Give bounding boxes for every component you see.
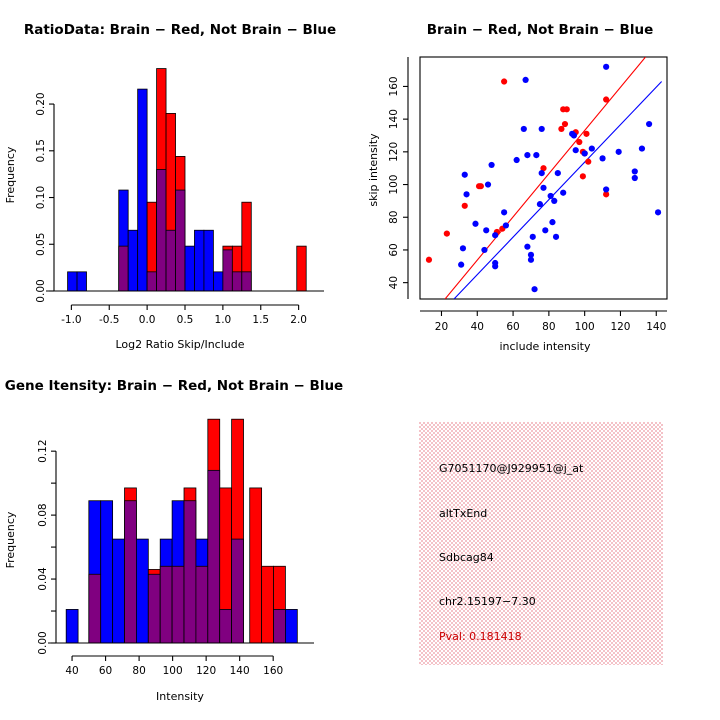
scatter-point: [503, 222, 509, 228]
y-axis-tick-label: 40: [388, 276, 400, 289]
scatter-point: [472, 221, 478, 227]
scatter-point: [463, 191, 469, 197]
scatter-point: [483, 227, 489, 233]
scatter-point: [576, 139, 582, 145]
info-line-event: altTxEnd: [439, 507, 487, 520]
scatter-point: [478, 183, 484, 189]
x-axis-tick-label: -0.5: [99, 314, 120, 326]
scatter-point: [555, 170, 561, 176]
histogram-bar: [213, 272, 222, 291]
scatter-point: [585, 159, 591, 165]
scatter-point: [460, 245, 466, 251]
histogram-bar: [138, 89, 147, 291]
x-axis-tick-label: 0.0: [139, 314, 156, 326]
not-brain-fit-line: [454, 82, 662, 299]
histogram-bar-overlap: [157, 169, 166, 291]
histogram-bar-overlap: [172, 566, 184, 643]
intensity-scatter-svg: Brain − Red, Not Brain − Blue include in…: [360, 0, 720, 360]
scatter-point: [603, 96, 609, 102]
gene-histogram-ylabel: Frequency: [4, 511, 17, 568]
scatter-point: [571, 132, 577, 138]
x-axis-tick-label: 40: [471, 321, 484, 333]
histogram-bar: [262, 566, 274, 643]
histogram-bar-overlap: [148, 574, 160, 643]
scatter-point: [530, 234, 536, 240]
histogram-bar-overlap: [119, 246, 128, 291]
histogram-bar-overlap: [242, 272, 251, 291]
x-axis-tick-label: 120: [196, 665, 216, 677]
histogram-bar-overlap: [196, 566, 208, 643]
x-axis-tick-label: 60: [506, 321, 519, 333]
scatter-fit-lines: [445, 57, 662, 299]
scatter-point: [539, 126, 545, 132]
scatter-point: [539, 170, 545, 176]
histogram-bar-overlap: [220, 609, 232, 643]
scatter-point: [492, 232, 498, 238]
scatter-point: [523, 77, 529, 83]
scatter-point: [560, 190, 566, 196]
y-axis-tick-label: 0.05: [35, 233, 47, 256]
scatter-point: [562, 121, 568, 127]
scatter-point: [551, 198, 557, 204]
scatter-point: [549, 219, 555, 225]
y-axis-tick-label: 60: [388, 243, 400, 256]
x-axis-tick-label: -1.0: [61, 314, 82, 326]
histogram-bar-overlap: [223, 250, 232, 291]
y-axis-tick-label: 0.15: [35, 139, 47, 162]
x-axis-tick-label: 140: [646, 321, 666, 333]
y-axis-tick-label: 80: [388, 211, 400, 224]
scatter-point: [488, 162, 494, 168]
y-axis-tick-label: 0.04: [37, 567, 49, 591]
scatter-ylabel: skip intensity: [367, 133, 380, 207]
gene-intensity-panel: Gene Itensity: Brain − Red, Not Brain − …: [0, 360, 360, 720]
scatter-point: [462, 172, 468, 178]
scatter-xlabel: include intensity: [499, 340, 591, 353]
histogram-bar-overlap: [166, 230, 175, 291]
scatter-title: Brain − Red, Not Brain − Blue: [427, 22, 653, 38]
x-axis-tick-label: 20: [435, 321, 448, 333]
scatter-point: [481, 247, 487, 253]
histogram-bar: [204, 230, 213, 291]
scatter-point: [524, 244, 530, 250]
x-axis-tick-label: 80: [132, 665, 145, 677]
y-axis-tick-label: 120: [388, 142, 400, 162]
histogram-bar-overlap: [89, 574, 101, 643]
histogram-bar-overlap: [232, 539, 244, 643]
histogram-bar: [101, 501, 113, 643]
scatter-point: [537, 201, 543, 207]
x-axis-tick-label: 60: [99, 665, 112, 677]
gene-histogram-xlabel: Intensity: [156, 690, 204, 703]
gene-histogram-title: Gene Itensity: Brain − Red, Not Brain − …: [5, 378, 343, 394]
scatter-point: [632, 168, 638, 174]
ratio-histogram-xlabel: Log2 Ratio Skip/Include: [115, 338, 244, 351]
histogram-bar-overlap: [184, 501, 196, 643]
histogram-bar-overlap: [160, 566, 172, 643]
scatter-point: [553, 234, 559, 240]
scatter-point: [646, 121, 652, 127]
scatter-axes: 20406080100120140406080100120140160: [388, 57, 667, 333]
histogram-bar: [68, 272, 77, 291]
histogram-bar: [185, 246, 194, 291]
info-line-pval: Pval: 0.181418: [439, 630, 522, 643]
x-axis-tick-label: 140: [230, 665, 250, 677]
histogram-bar-overlap: [176, 190, 185, 291]
x-axis-tick-label: 80: [542, 321, 555, 333]
scatter-points: [426, 64, 661, 293]
histogram-bar-overlap: [232, 272, 241, 291]
scatter-point: [599, 155, 605, 161]
scatter-point: [540, 185, 546, 191]
histogram-bar: [285, 609, 297, 643]
scatter-point: [501, 209, 507, 215]
scatter-point: [533, 152, 539, 158]
scatter-point: [583, 131, 589, 137]
scatter-point: [524, 152, 530, 158]
scatter-point: [603, 186, 609, 192]
scatter-point: [542, 227, 548, 233]
scatter-point: [492, 260, 498, 266]
x-axis-tick-label: 0.5: [177, 314, 194, 326]
scatter-point: [531, 286, 537, 292]
gene-info-panel: G7051170@J929951@j_at altTxEnd Sdbcag84 …: [419, 422, 663, 665]
scatter-point: [485, 181, 491, 187]
ratio-histogram-ylabel: Frequency: [4, 146, 17, 203]
histogram-bar-overlap: [147, 272, 156, 291]
x-axis-tick-label: 160: [263, 665, 283, 677]
histogram-bar-overlap: [208, 470, 220, 643]
gene-intensity-svg: Gene Itensity: Brain − Red, Not Brain − …: [0, 360, 360, 720]
ratio-histogram-svg: RatioData: Brain − Red, Not Brain − Blue…: [0, 0, 360, 360]
y-axis-tick-label: 0.00: [37, 631, 49, 654]
histogram-bar: [297, 246, 306, 291]
scatter-point: [458, 262, 464, 268]
scatter-point: [521, 126, 527, 132]
x-axis-tick-label: 100: [163, 665, 183, 677]
histogram-bar: [250, 488, 262, 643]
ratio-histogram-panel: RatioData: Brain − Red, Not Brain − Blue…: [0, 0, 360, 360]
scatter-point: [426, 257, 432, 263]
scatter-point: [655, 209, 661, 215]
gene-histogram-bars: [66, 419, 297, 643]
histogram-bar: [66, 609, 78, 643]
x-axis-tick-label: 2.0: [290, 314, 307, 326]
histogram-bar: [128, 230, 137, 291]
scatter-point: [616, 149, 622, 155]
y-axis-tick-label: 0.00: [35, 279, 47, 302]
scatter-point: [603, 64, 609, 70]
histogram-bar-overlap: [125, 501, 137, 643]
y-axis-tick-label: 100: [388, 175, 400, 195]
y-axis-tick-label: 0.12: [37, 439, 49, 462]
scatter-point: [580, 173, 586, 179]
scatter-point: [462, 203, 468, 209]
histogram-bar: [77, 272, 86, 291]
x-axis-tick-label: 1.5: [252, 314, 269, 326]
histogram-bar-overlap: [274, 609, 286, 643]
x-axis-tick-label: 100: [575, 321, 595, 333]
ratio-histogram-title: RatioData: Brain − Red, Not Brain − Blue: [24, 22, 336, 38]
y-axis-tick-label: 0.10: [35, 186, 47, 209]
ratio-histogram-bars: [68, 69, 307, 291]
scatter-point: [632, 175, 638, 181]
y-axis-tick-label: 0.08: [37, 503, 49, 526]
x-axis-tick-label: 120: [610, 321, 630, 333]
scatter-point: [501, 78, 507, 84]
x-axis-tick-label: 1.0: [215, 314, 232, 326]
scatter-point: [564, 106, 570, 112]
y-axis-tick-label: 140: [388, 109, 400, 129]
y-axis-tick-label: 160: [388, 76, 400, 96]
scatter-point: [514, 157, 520, 163]
scatter-point: [639, 145, 645, 151]
plot-frame: [420, 57, 667, 299]
x-axis-tick-label: 40: [65, 665, 78, 677]
scatter-point: [582, 150, 588, 156]
histogram-bar: [136, 539, 148, 643]
scatter-point: [589, 145, 595, 151]
info-line-locus: chr2.15197−7.30: [439, 595, 536, 608]
info-line-probe: G7051170@J929951@j_at: [439, 462, 583, 475]
intensity-scatter-panel: Brain − Red, Not Brain − Blue include in…: [360, 0, 720, 360]
info-line-gene: Sdbcag84: [439, 551, 494, 564]
scatter-point: [573, 147, 579, 153]
histogram-bar: [194, 230, 203, 291]
y-axis-tick-label: 0.20: [35, 92, 47, 115]
histogram-bar: [113, 539, 125, 643]
scatter-frame: [420, 57, 667, 299]
scatter-point: [444, 230, 450, 236]
brain-fit-line: [445, 57, 645, 299]
scatter-point: [528, 252, 534, 258]
